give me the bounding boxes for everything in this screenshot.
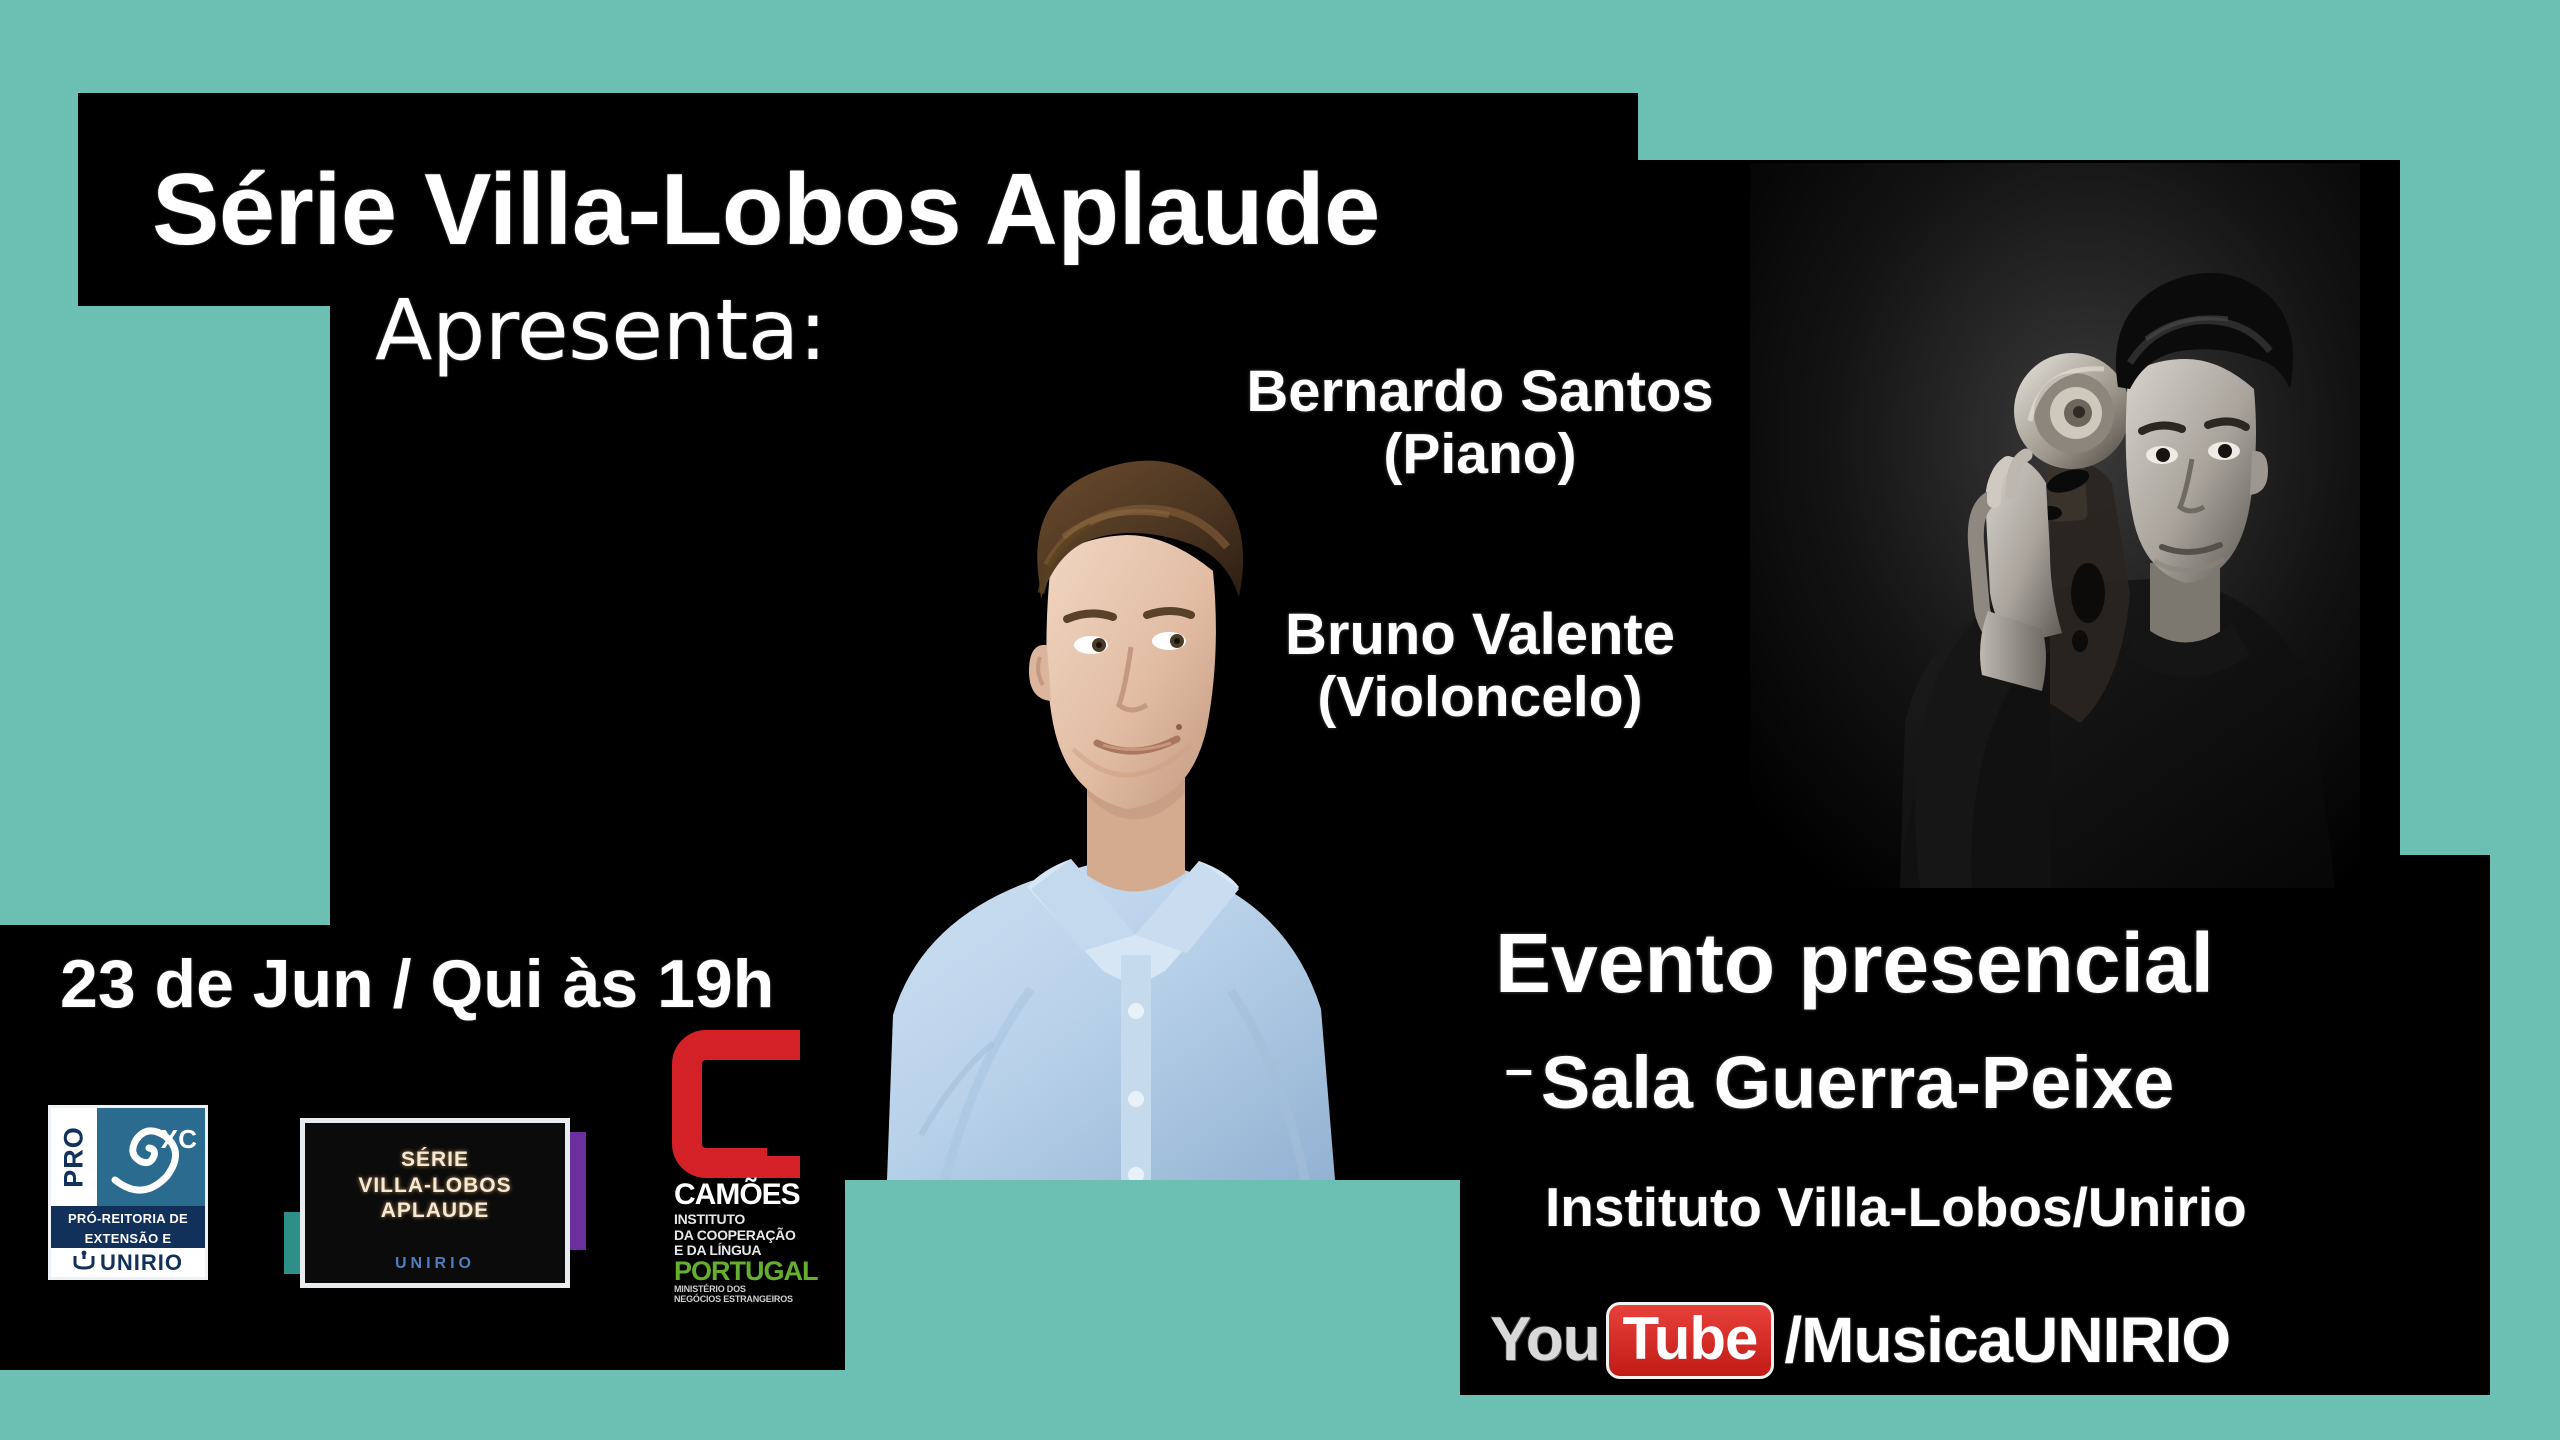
venue-hall-label: Sala Guerra-Peixe (1541, 1041, 2174, 1124)
venue-dash: – (1505, 1041, 1533, 1097)
presents-label: Apresenta: (375, 288, 827, 372)
performer-2: Bruno Valente (Violoncelo) (1195, 605, 1765, 726)
venue-hall: –Sala Guerra-Peixe (1505, 1040, 2174, 1125)
proexc-unirio-bar: UNIRIO (51, 1248, 205, 1277)
youtube-logo-icon: Tube (1606, 1302, 1775, 1379)
page-title: Série Villa-Lobos Aplaude (152, 160, 1380, 261)
youtube-tube-text: Tube (1623, 1305, 1758, 1372)
serie-villa-lobos-logo: SÉRIE VILLA-LOBOS APLAUDE UNIRIO (300, 1118, 570, 1288)
proexc-pro-block: PRO (51, 1108, 97, 1206)
camoes-ministry: MINISTÉRIO DOS NEGÓCIOS ESTRANGEIROS (674, 1284, 793, 1305)
youtube-you-text: You (1490, 1309, 1600, 1371)
camoes-ministry-line1: MINISTÉRIO DOS (674, 1284, 793, 1294)
cellist-photo (1750, 163, 2360, 888)
performer-1: Bernardo Santos (Piano) (1195, 362, 1765, 483)
event-type-label: Evento presencial (1495, 915, 2214, 1012)
camoes-ministry-line2: NEGÓCIOS ESTRANGEIROS (674, 1294, 793, 1304)
unirio-crown-icon (73, 1250, 95, 1275)
camoes-sub-line2: DA COOPERAÇÃO (674, 1228, 796, 1244)
venue-institute: Instituto Villa-Lobos/Unirio (1545, 1175, 2247, 1239)
proexc-frame: PRO XC PRÓ-REITORIA DE EXTENSÃO E CULTUR… (48, 1105, 208, 1280)
serie-logo-text: SÉRIE VILLA-LOBOS APLAUDE (305, 1147, 565, 1224)
camoes-sub-line1: INSTITUTO (674, 1212, 796, 1228)
performer-2-role: (Violoncelo) (1195, 668, 1765, 726)
serie-frame: SÉRIE VILLA-LOBOS APLAUDE UNIRIO (300, 1118, 570, 1288)
performer-1-name: Bernardo Santos (1246, 359, 1713, 424)
youtube-handle: /MusicaUNIRIO (1784, 1308, 2230, 1372)
date-time-text: 23 de Jun / Qui às 19h (60, 945, 774, 1023)
proexc-unirio-text: UNIRIO (100, 1250, 183, 1276)
camoes-c-icon (672, 1030, 800, 1178)
proexc-top: PRO XC (51, 1108, 205, 1206)
performer-2-name: Bruno Valente (1285, 602, 1675, 667)
pianist-photo (835, 375, 1435, 1180)
serie-logo-line1: SÉRIE (305, 1147, 565, 1173)
camoes-logo: CAMÕES INSTITUTO DA COOPERAÇÃO E DA LÍNG… (672, 1030, 822, 1300)
youtube-link[interactable]: You Tube /MusicaUNIRIO (1490, 1300, 2230, 1380)
proexc-xc-text: XC (161, 1124, 197, 1155)
proexc-subtitle-line1: PRÓ-REITORIA DE (51, 1209, 205, 1229)
camoes-name: CAMÕES (674, 1180, 800, 1210)
proexc-unirio-logo: PRO XC PRÓ-REITORIA DE EXTENSÃO E CULTUR… (48, 1105, 208, 1280)
serie-logo-unirio: UNIRIO (305, 1255, 565, 1273)
proexc-pro-text: PRO (59, 1126, 90, 1188)
serie-logo-line2: VILLA-LOBOS (305, 1173, 565, 1199)
proexc-blue-block: XC (97, 1108, 205, 1206)
performer-1-role: (Piano) (1195, 425, 1765, 483)
camoes-subtitle: INSTITUTO DA COOPERAÇÃO E DA LÍNGUA (674, 1212, 796, 1259)
proexc-subtitle: PRÓ-REITORIA DE EXTENSÃO E CULTURA (51, 1206, 205, 1250)
poster-root: Série Villa-Lobos Aplaude Apresenta: Ber… (0, 0, 2560, 1440)
serie-logo-line3: APLAUDE (305, 1198, 565, 1224)
camoes-country: PORTUGAL (674, 1258, 818, 1285)
